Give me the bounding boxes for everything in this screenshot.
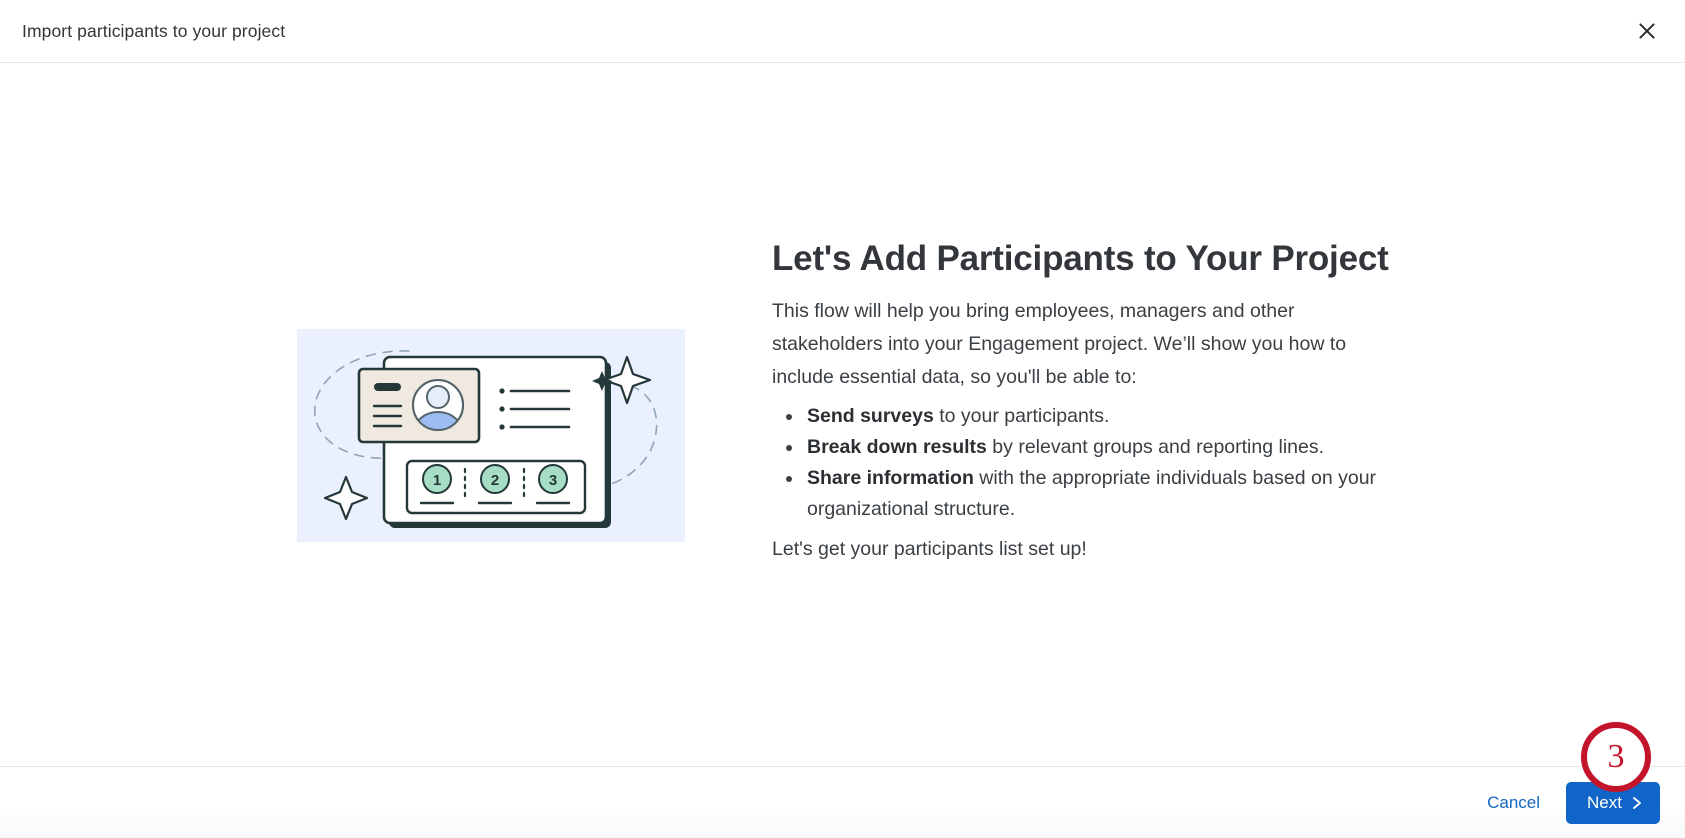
list-item: Share information with the appropriate i…	[804, 463, 1397, 525]
benefit-term: Share information	[807, 467, 974, 489]
headline: Let's Add Participants to Your Project	[772, 238, 1397, 279]
illustration-step-2: 2	[491, 472, 499, 489]
benefit-detail: by relevant groups and reporting lines.	[987, 436, 1324, 458]
illustration-step-3: 3	[549, 472, 557, 489]
benefit-term: Break down results	[807, 436, 987, 458]
participants-id-card-illustration: 1 2 3	[297, 329, 685, 542]
modal-body: 1 2 3	[0, 63, 1685, 766]
list-item: Break down results by relevant groups an…	[804, 432, 1397, 463]
import-participants-modal: Import participants to your project	[0, 0, 1685, 838]
cancel-button[interactable]: Cancel	[1477, 785, 1550, 821]
next-button-label: Next	[1587, 793, 1622, 813]
intro-text-column: Let's Add Participants to Your Project T…	[772, 238, 1397, 565]
benefits-list: Send surveys to your participants. Break…	[772, 401, 1397, 525]
annotation-step-marker: 3	[1581, 722, 1651, 792]
list-item: Send surveys to your participants.	[804, 401, 1397, 432]
modal-header: Import participants to your project	[0, 0, 1685, 63]
intro-paragraph: This flow will help you bring employees,…	[772, 295, 1397, 394]
page-title: Import participants to your project	[22, 19, 285, 43]
illustration-step-1: 1	[433, 472, 441, 489]
benefit-detail: to your participants.	[934, 405, 1110, 427]
closing-paragraph: Let's get your participants list set up!	[772, 534, 1397, 565]
modal-footer: Cancel Next	[0, 766, 1685, 838]
benefit-term: Send surveys	[807, 405, 934, 427]
annotation-number: 3	[1608, 740, 1625, 774]
close-button[interactable]	[1631, 15, 1663, 47]
close-icon	[1638, 22, 1656, 40]
chevron-right-icon	[1631, 796, 1643, 810]
